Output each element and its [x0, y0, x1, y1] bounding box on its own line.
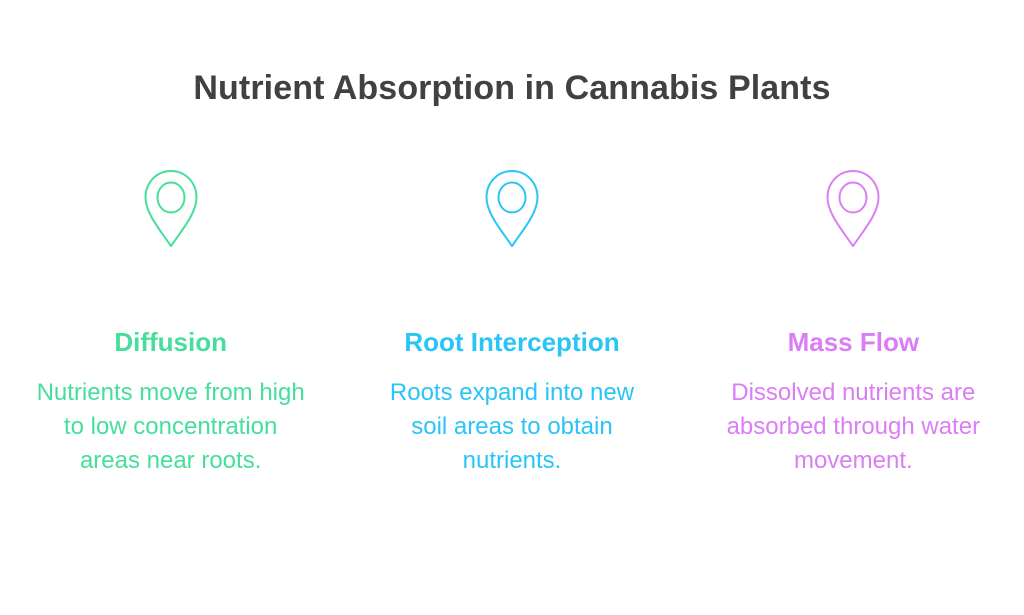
- concept-description: Dissolved nutrients are absorbed through…: [718, 376, 988, 478]
- concept-column-mass-flow: Mass Flow Dissolved nutrients are absorb…: [683, 168, 1024, 478]
- concept-columns: Diffusion Nutrients move from high to lo…: [0, 168, 1024, 478]
- concept-heading: Root Interception: [404, 326, 619, 358]
- map-pin-icon: [823, 168, 883, 250]
- infographic-slide: Nutrient Absorption in Cannabis Plants D…: [0, 0, 1024, 615]
- concept-description: Nutrients move from high to low concentr…: [36, 376, 306, 478]
- concept-heading: Mass Flow: [788, 326, 919, 358]
- page-title: Nutrient Absorption in Cannabis Plants: [0, 66, 1024, 110]
- map-pin-icon: [141, 168, 201, 250]
- concept-column-root-interception: Root Interception Roots expand into new …: [341, 168, 682, 478]
- concept-column-diffusion: Diffusion Nutrients move from high to lo…: [0, 168, 341, 478]
- concept-heading: Diffusion: [114, 326, 227, 358]
- map-pin-icon: [482, 168, 542, 250]
- concept-description: Roots expand into new soil areas to obta…: [377, 376, 647, 478]
